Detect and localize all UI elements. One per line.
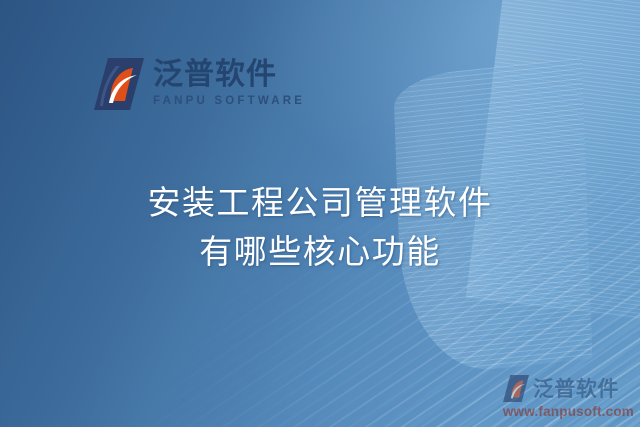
fanpu-hexagon-sail-logo-icon xyxy=(503,375,529,402)
page-title: 安装工程公司管理软件 有哪些核心功能 xyxy=(0,178,640,276)
watermark-url: www.fanpusoft.com xyxy=(503,404,634,419)
brand-name-cn: 泛普软件 xyxy=(153,60,305,90)
slide-canvas: 泛普软件 FANPU SOFTWARE 安装工程公司管理软件 有哪些核心功能 泛… xyxy=(0,0,640,427)
brand-logo: 泛普软件 FANPU SOFTWARE xyxy=(94,58,305,110)
page-title-line-1: 安装工程公司管理软件 xyxy=(0,178,640,227)
page-title-line-2: 有哪些核心功能 xyxy=(0,227,640,276)
brand-name-en: FANPU SOFTWARE xyxy=(153,96,305,108)
watermark: 泛普软件 www.fanpusoft.com xyxy=(503,373,634,419)
watermark-brand-cn: 泛普软件 xyxy=(533,373,619,403)
brand-logo-text: 泛普软件 FANPU SOFTWARE xyxy=(153,60,305,108)
watermark-logo-row: 泛普软件 xyxy=(503,373,634,403)
fanpu-hexagon-sail-logo-icon xyxy=(94,58,144,110)
